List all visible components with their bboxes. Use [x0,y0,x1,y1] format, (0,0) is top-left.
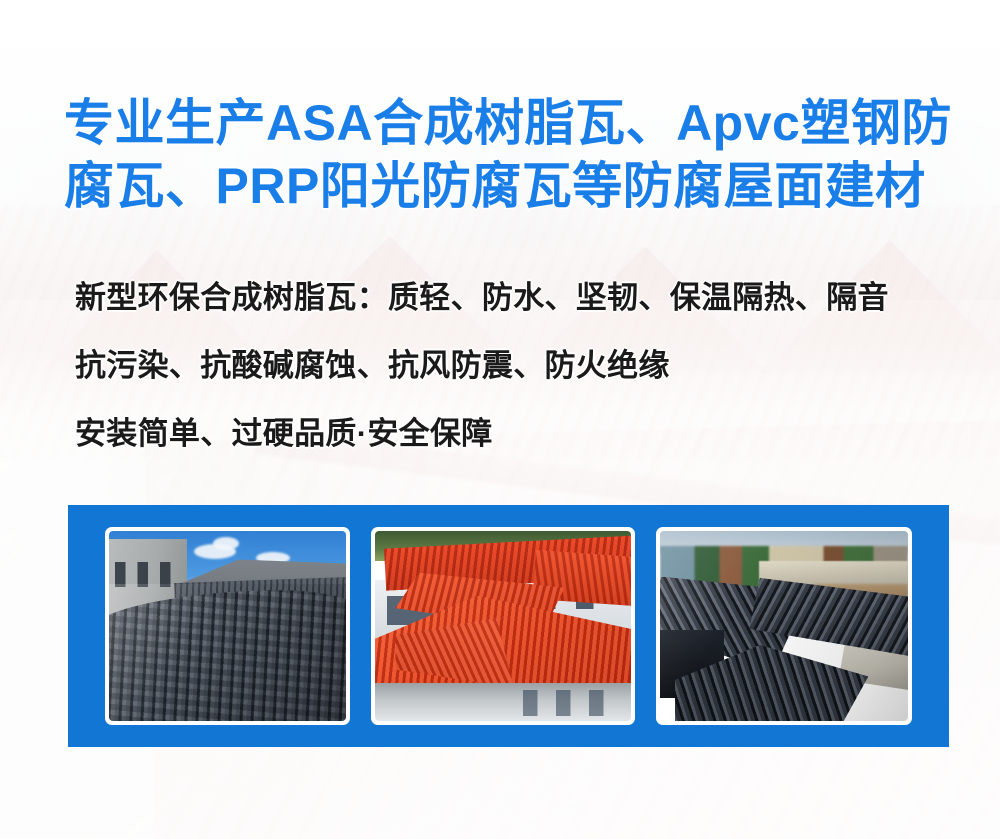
subheadline-line-2: 抗污染、抗酸碱腐蚀、抗风防震、防火绝缘 [75,340,965,385]
photo-image-red-tile-roof [375,531,631,721]
subheadline-line-1: 新型环保合成树脂瓦：质轻、防水、坚韧、保温隔热、隔音 [75,272,965,317]
gallery-photo-red-tile-roof[interactable] [371,527,635,725]
gallery-photo-grey-tile-roof[interactable] [105,527,350,725]
headline-line-2: 腐瓦、PRP阳光防腐瓦等防腐屋面建材 [64,155,944,218]
subheadline: 新型环保合成树脂瓦：质轻、防水、坚韧、保温隔热、隔音 抗污染、抗酸碱腐蚀、抗风防… [75,272,965,453]
product-promo-banner: 专业生产ASA合成树脂瓦、Apvc塑钢防 腐瓦、PRP阳光防腐瓦等防腐屋面建材 … [0,0,1000,839]
headline: 专业生产ASA合成树脂瓦、Apvc塑钢防 腐瓦、PRP阳光防腐瓦等防腐屋面建材 [64,92,944,218]
subheadline-line-3: 安装简单、过硬品质·安全保障 [75,408,965,453]
banner-content: 专业生产ASA合成树脂瓦、Apvc塑钢防 腐瓦、PRP阳光防腐瓦等防腐屋面建材 … [0,0,1000,839]
photo-image-grey-tile-roof [109,531,346,721]
photo3-sheen [660,531,908,721]
photo-image-black-tile-roof [660,531,908,721]
photo2-lower-facade [375,683,631,721]
gallery-photo-black-tile-roof[interactable] [656,527,912,725]
photo1-sheen [109,584,346,721]
headline-line-1: 专业生产ASA合成树脂瓦、Apvc塑钢防 [64,92,944,155]
photo-gallery-panel [68,505,949,747]
photo1-cloud [213,537,239,550]
